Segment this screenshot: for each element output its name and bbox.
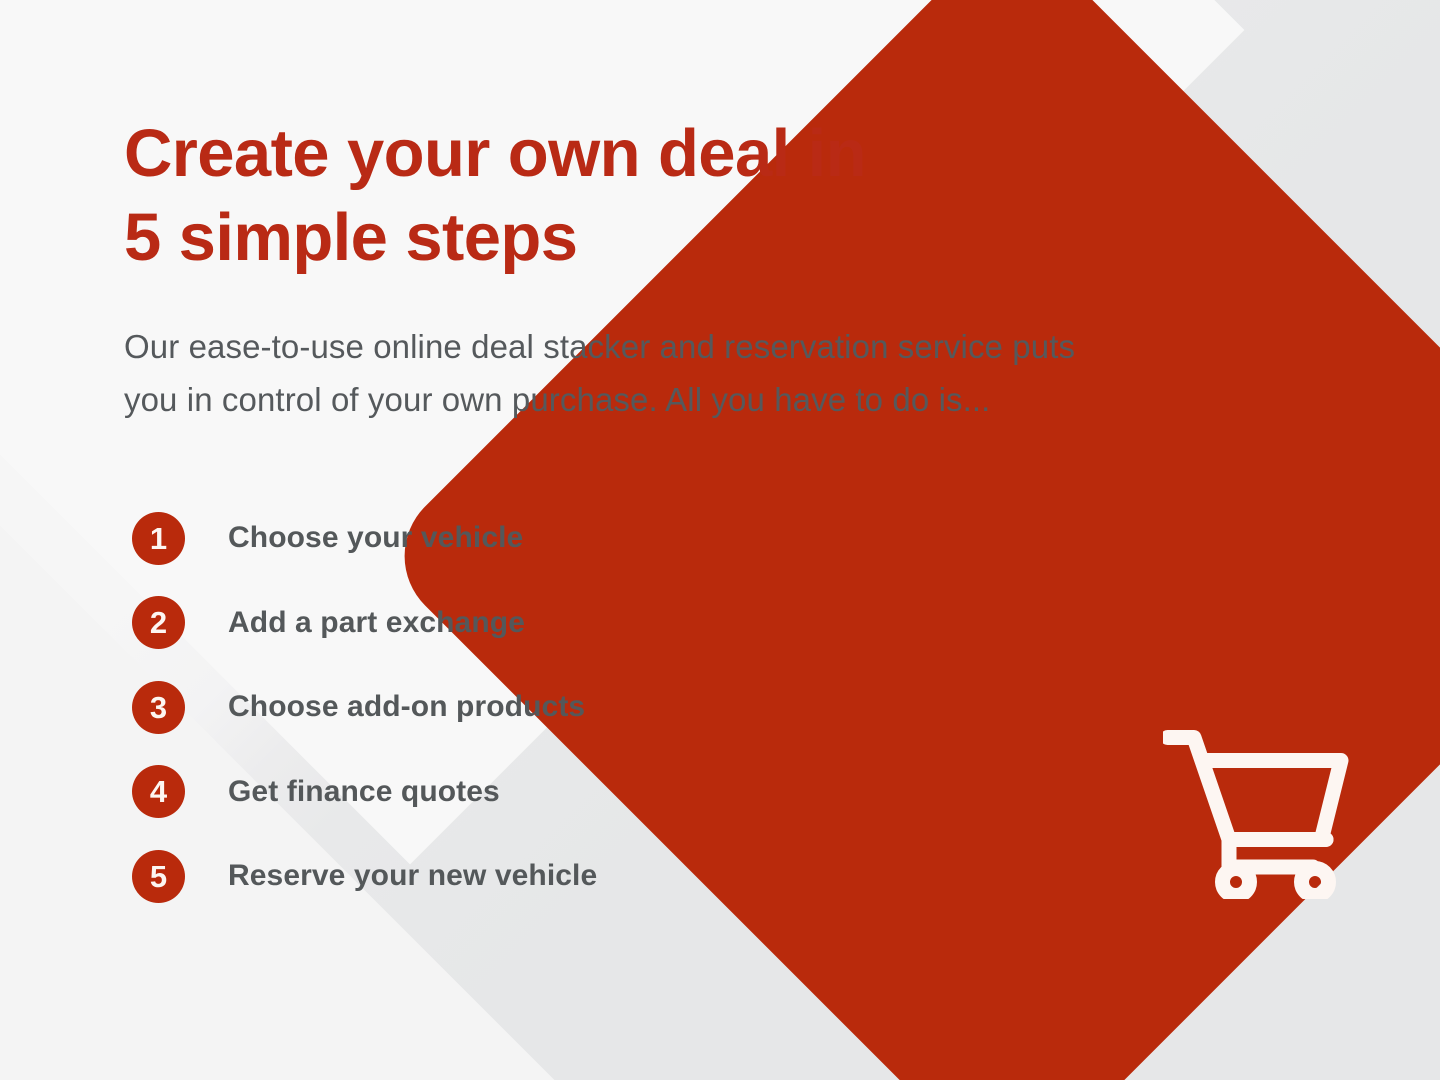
- list-item: 1Choose your vehicle: [132, 496, 597, 581]
- step-number-badge: 5: [132, 850, 185, 903]
- step-label: Reserve your new vehicle: [228, 859, 597, 893]
- intro-paragraph: Our ease-to-use online deal stacker and …: [124, 320, 1314, 426]
- step-label: Add a part exchange: [228, 606, 525, 640]
- content-column: Create your own deal in 5 simple steps O…: [124, 0, 1334, 1080]
- list-item: 5Reserve your new vehicle: [132, 834, 597, 919]
- step-label: Choose your vehicle: [228, 521, 523, 555]
- step-number-badge: 2: [132, 596, 185, 649]
- step-number-badge: 1: [132, 512, 185, 565]
- steps-list: 1Choose your vehicle2Add a part exchange…: [132, 496, 597, 919]
- page-title: Create your own deal in 5 simple steps: [124, 112, 866, 280]
- list-item: 2Add a part exchange: [132, 581, 597, 666]
- slide-canvas: Create your own deal in 5 simple steps O…: [0, 0, 1440, 1080]
- step-number-badge: 3: [132, 681, 185, 734]
- list-item: 4Get finance quotes: [132, 750, 597, 835]
- list-item: 3Choose add-on products: [132, 665, 597, 750]
- step-label: Choose add-on products: [228, 690, 585, 724]
- step-label: Get finance quotes: [228, 775, 500, 809]
- step-number-badge: 4: [132, 765, 185, 818]
